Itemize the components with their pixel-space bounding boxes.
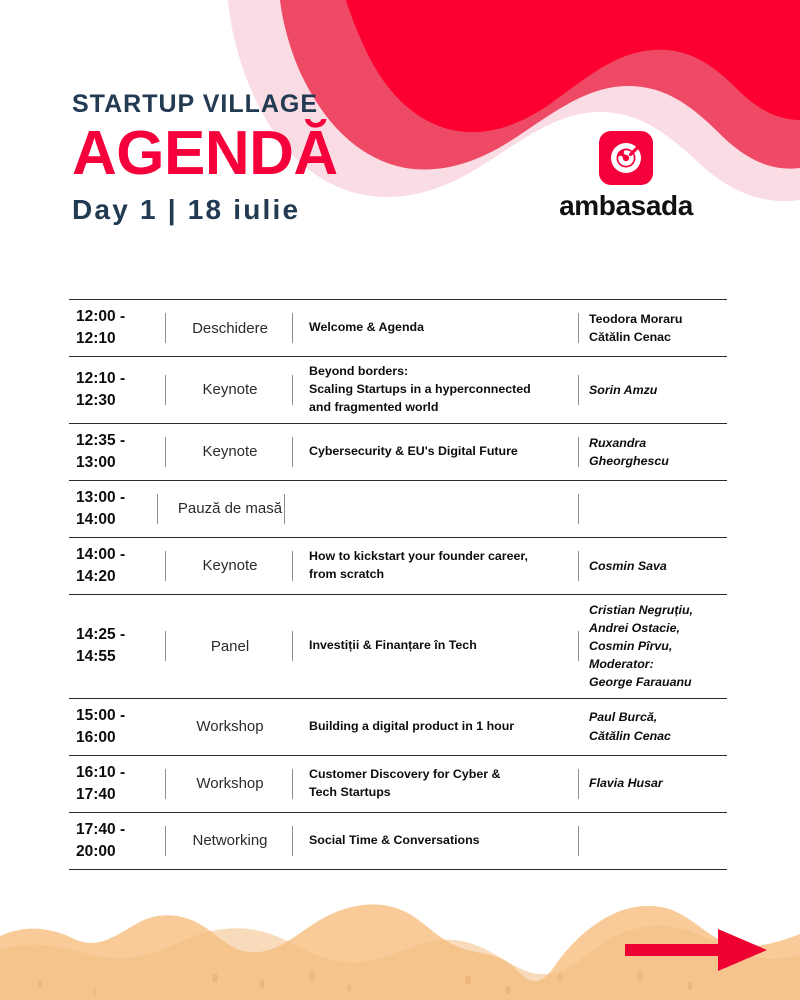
column-divider [578, 494, 579, 524]
table-row: 13:00 - 14:00Pauză de masă [69, 480, 727, 537]
poster-header: STARTUP VILLAGE AGENDĂ Day 1 | 18 iulie [72, 92, 338, 224]
column-divider [165, 631, 166, 661]
column-divider [578, 631, 579, 661]
kicker-text: STARTUP VILLAGE [72, 92, 338, 117]
column-divider [165, 769, 166, 799]
column-divider [578, 769, 579, 799]
row-session-type: Keynote [165, 357, 295, 423]
row-session-type: Keynote [165, 538, 295, 594]
row-time-range: 12:00 - 12:10 [69, 300, 165, 356]
row-session-title: Building a digital product in 1 hour [295, 699, 575, 755]
table-row: 12:00 - 12:10DeschidereWelcome & AgendaT… [69, 299, 727, 356]
table-row: 14:00 - 14:20KeynoteHow to kickstart you… [69, 537, 727, 594]
row-session-type: Networking [165, 813, 295, 869]
page-title: AGENDĂ [72, 121, 338, 186]
column-divider [165, 313, 166, 343]
table-row: 12:35 - 13:00KeynoteCybersecurity & EU's… [69, 423, 727, 480]
row-session-title: Customer Discovery for Cyber & Tech Star… [295, 756, 575, 812]
row-time-range: 17:40 - 20:00 [69, 813, 165, 869]
row-session-type: Workshop [165, 699, 295, 755]
spiral-logo-icon [599, 131, 653, 185]
row-session-type: Pauză de masă [165, 481, 295, 537]
row-speakers [575, 813, 727, 869]
column-divider [578, 437, 579, 467]
row-speakers: Cristian Negruțiu, Andrei Ostacie, Cosmi… [575, 595, 727, 698]
row-session-title: Beyond borders: Scaling Startups in a hy… [295, 357, 575, 423]
column-divider [284, 494, 285, 524]
table-row: 14:25 - 14:55PanelInvestiții & Finanțare… [69, 594, 727, 698]
column-divider [578, 826, 579, 856]
column-divider [292, 769, 293, 799]
row-session-title: Social Time & Conversations [295, 813, 575, 869]
row-session-title: Welcome & Agenda [295, 300, 575, 356]
column-divider [165, 551, 166, 581]
column-divider [165, 437, 166, 467]
row-speakers [575, 481, 727, 537]
row-session-type: Deschidere [165, 300, 295, 356]
row-speakers: Cosmin Sava [575, 538, 727, 594]
table-row: 16:10 - 17:40WorkshopCustomer Discovery … [69, 755, 727, 812]
column-divider [165, 375, 166, 405]
row-speakers: Paul Burcă, Cătălin Cenac [575, 699, 727, 755]
row-time-range: 12:10 - 12:30 [69, 357, 165, 423]
column-divider [578, 551, 579, 581]
table-row: 17:40 - 20:00NetworkingSocial Time & Con… [69, 812, 727, 870]
brand-logo: ambasada [553, 131, 699, 220]
column-divider [157, 494, 158, 524]
schedule-table: 12:00 - 12:10DeschidereWelcome & AgendaT… [69, 299, 727, 870]
row-session-title: Investiții & Finanțare în Tech [295, 595, 575, 698]
column-divider [578, 375, 579, 405]
column-divider [292, 551, 293, 581]
row-session-type: Panel [165, 595, 295, 698]
row-time-range: 13:00 - 14:00 [69, 481, 165, 537]
column-divider [578, 313, 579, 343]
row-time-range: 15:00 - 16:00 [69, 699, 165, 755]
row-time-range: 12:35 - 13:00 [69, 424, 165, 480]
table-row: 15:00 - 16:00WorkshopBuilding a digital … [69, 698, 727, 755]
column-divider [292, 826, 293, 856]
row-session-title [295, 481, 575, 537]
row-session-title: How to kickstart your founder career, fr… [295, 538, 575, 594]
right-arrow-icon [615, 925, 780, 975]
column-divider [165, 826, 166, 856]
column-divider [292, 313, 293, 343]
column-divider [292, 631, 293, 661]
row-speakers: Teodora Moraru Cătălin Cenac [575, 300, 727, 356]
row-time-range: 14:00 - 14:20 [69, 538, 165, 594]
row-session-title: Cybersecurity & EU's Digital Future [295, 424, 575, 480]
agenda-poster: STARTUP VILLAGE AGENDĂ Day 1 | 18 iulie … [0, 0, 800, 1000]
day-subtitle: Day 1 | 18 iulie [72, 196, 338, 224]
row-time-range: 16:10 - 17:40 [69, 756, 165, 812]
column-divider [292, 437, 293, 467]
table-row: 12:10 - 12:30KeynoteBeyond borders: Scal… [69, 356, 727, 423]
row-time-range: 14:25 - 14:55 [69, 595, 165, 698]
row-speakers: Ruxandra Gheorghescu [575, 424, 727, 480]
row-session-type: Workshop [165, 756, 295, 812]
row-speakers: Sorin Amzu [575, 357, 727, 423]
row-speakers: Flavia Husar [575, 756, 727, 812]
row-session-type: Keynote [165, 424, 295, 480]
brand-name: ambasada [553, 192, 699, 220]
column-divider [292, 375, 293, 405]
